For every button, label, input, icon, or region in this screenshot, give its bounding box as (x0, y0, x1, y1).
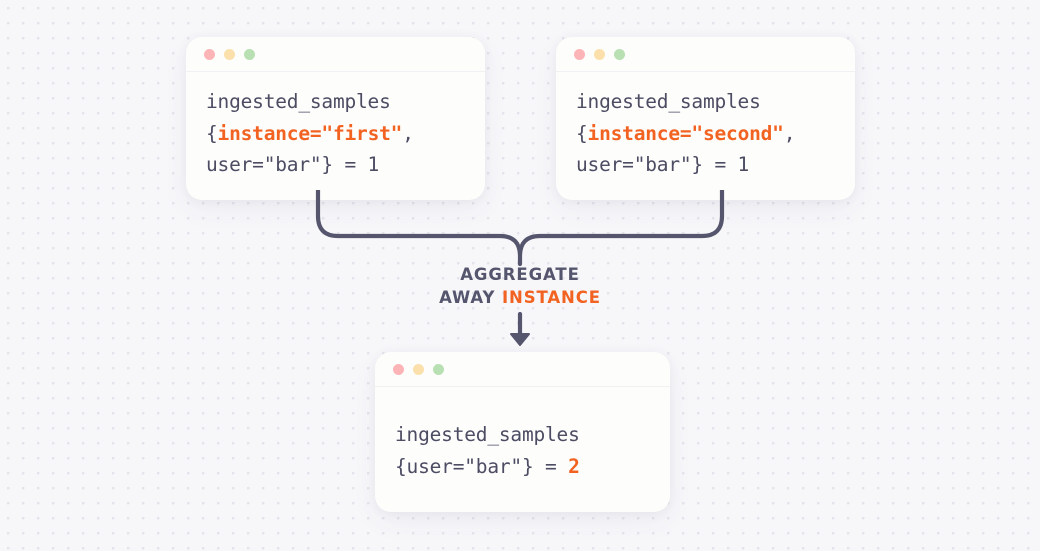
operation-label-prefix: AWAY (439, 288, 502, 307)
metric-labels-line: {instance="first", (206, 118, 465, 150)
operation-label-line1: AGGREGATE (370, 263, 670, 286)
metric-name: ingested_samples (576, 86, 835, 118)
metric-value-line: user="bar"} = 1 (576, 149, 835, 181)
metric-card-first: ingested_samples {instance="first", user… (186, 37, 485, 200)
metric-name: ingested_samples (395, 419, 650, 451)
operation-label-highlight: INSTANCE (502, 288, 601, 307)
window-dot-green-icon (433, 364, 444, 375)
window-dot-red-icon (204, 49, 215, 60)
window-dot-red-icon (574, 49, 585, 60)
metric-value-line: {user="bar"} = 2 (395, 451, 650, 483)
diagram-canvas: ingested_samples {instance="first", user… (0, 0, 1040, 551)
operation-label: AGGREGATE AWAY INSTANCE (370, 263, 670, 310)
operation-label-line2: AWAY INSTANCE (370, 286, 670, 309)
labels-separator: , (784, 122, 796, 145)
window-dot-red-icon (393, 364, 404, 375)
window-dot-yellow-icon (224, 49, 235, 60)
window-dot-green-icon (244, 49, 255, 60)
metric-labels-line: {instance="second", (576, 118, 835, 150)
window-dot-yellow-icon (594, 49, 605, 60)
metric-labels: {user="bar"} = (395, 455, 568, 478)
instance-label-highlight: instance="second" (588, 122, 784, 145)
instance-label-highlight: instance="first" (218, 122, 403, 145)
labels-separator: , (402, 122, 414, 145)
window-dot-green-icon (614, 49, 625, 60)
brace-open: { (206, 122, 218, 145)
card-titlebar (556, 37, 855, 72)
metric-card-result: ingested_samples {user="bar"} = 2 (375, 352, 670, 512)
card-body: ingested_samples {instance="first", user… (186, 72, 485, 199)
arrow-down-icon (504, 312, 536, 348)
metric-value: 2 (568, 455, 580, 478)
card-titlebar (375, 352, 670, 387)
card-body: ingested_samples {instance="second", use… (556, 72, 855, 199)
brace-open: { (576, 122, 588, 145)
metric-card-second: ingested_samples {instance="second", use… (556, 37, 855, 200)
metric-name: ingested_samples (206, 86, 465, 118)
curly-brace-connector-icon (296, 190, 744, 270)
window-dot-yellow-icon (413, 364, 424, 375)
card-body: ingested_samples {user="bar"} = 2 (375, 387, 670, 500)
card-titlebar (186, 37, 485, 72)
metric-value-line: user="bar"} = 1 (206, 149, 465, 181)
